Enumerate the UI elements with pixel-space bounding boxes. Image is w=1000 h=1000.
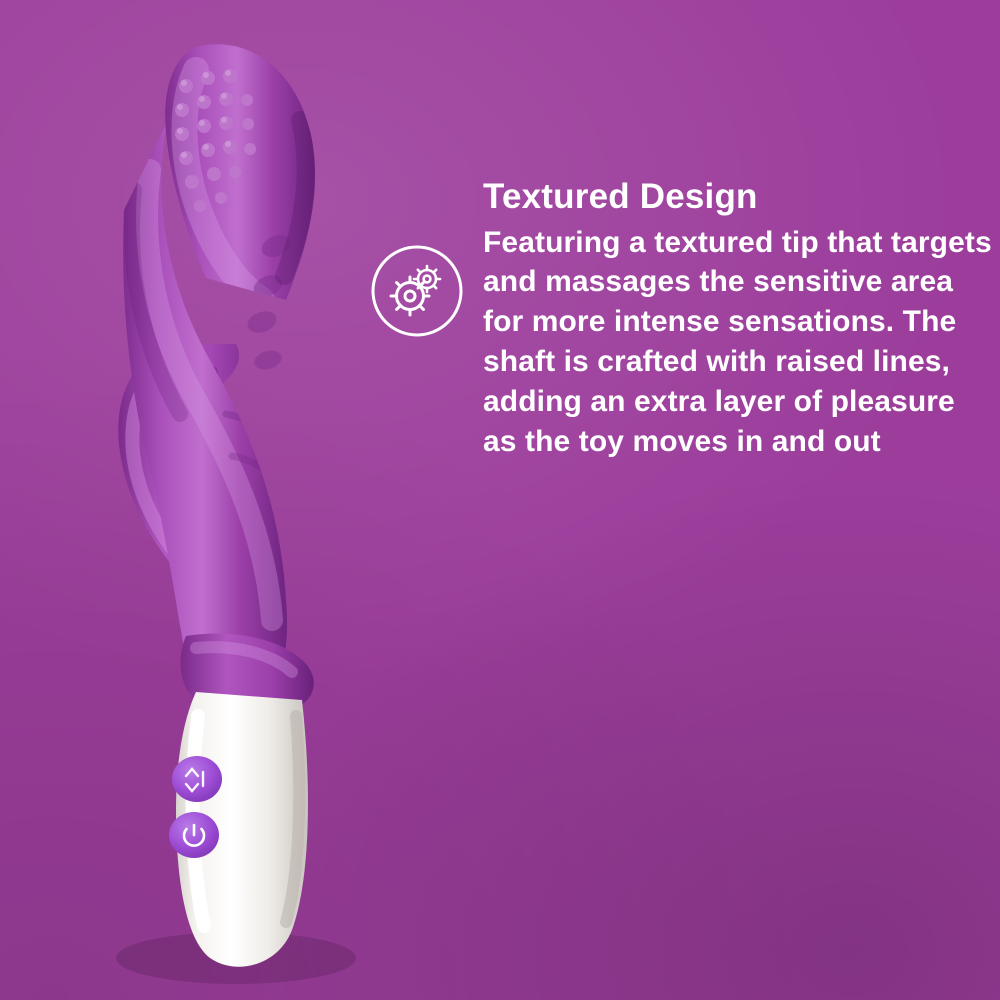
product-photo (0, 0, 480, 1000)
feature-title: Textured Design (483, 178, 993, 217)
product-control-power-button (169, 812, 219, 858)
gears-icon (371, 245, 463, 337)
feature-text-block: Textured Design Featuring a textured tip… (483, 178, 993, 462)
promo-image: Textured Design Featuring a textured tip… (0, 0, 1000, 1000)
feature-description: Featuring a textured tip that targets an… (483, 223, 993, 462)
product-control-mode-button (172, 756, 222, 802)
